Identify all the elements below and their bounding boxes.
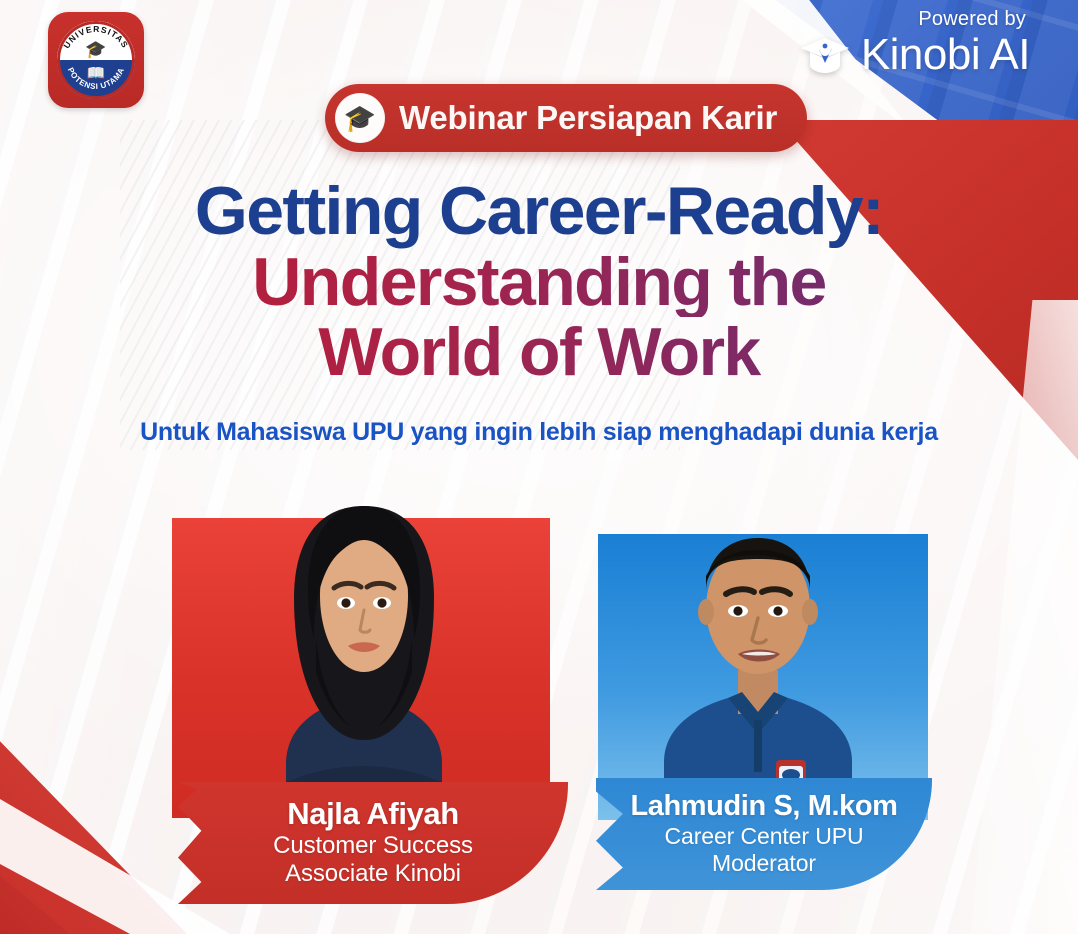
webinar-badge: 🎓 Webinar Persiapan Karir bbox=[325, 84, 807, 152]
speaker-1-role-line-1: Customer Success bbox=[273, 832, 473, 861]
speaker-2-portrait bbox=[650, 472, 866, 822]
university-logo: 🎓 📖 UNIVERSITAS POTENSI UTAMA bbox=[48, 12, 144, 108]
title-line-3: World of Work bbox=[0, 317, 1078, 388]
kinobi-wordmark: Kinobi AI bbox=[861, 33, 1030, 77]
speaker-1-name: Najla Afiyah bbox=[287, 797, 459, 832]
kinobi-cap-logo-icon bbox=[799, 35, 851, 75]
powered-by-block: Powered by Kinobi AI bbox=[799, 8, 1030, 77]
speaker-1-photo-block bbox=[172, 518, 550, 818]
webinar-badge-label: Webinar Persiapan Karir bbox=[399, 99, 777, 137]
webinar-poster: 🎓 📖 UNIVERSITAS POTENSI UTAMA Powered by bbox=[0, 0, 1078, 934]
kinobi-logo-row: Kinobi AI bbox=[799, 33, 1030, 77]
speaker-2-photo-block bbox=[598, 534, 928, 820]
crest-ring bbox=[57, 21, 135, 99]
speaker-2-name: Lahmudin S, M.kom bbox=[630, 790, 897, 822]
graduation-cap-icon: 🎓 bbox=[335, 93, 385, 143]
speaker-2-role-line-2: Moderator bbox=[712, 850, 816, 878]
speaker-1-portrait bbox=[264, 472, 464, 822]
title-line-2: Understanding the bbox=[0, 247, 1078, 318]
title-line-1: Getting Career-Ready: bbox=[0, 176, 1078, 247]
university-crest-icon: 🎓 📖 UNIVERSITAS POTENSI UTAMA bbox=[57, 21, 135, 99]
speaker-1-name-card: Najla Afiyah Customer Success Associate … bbox=[178, 782, 568, 904]
page-title: Getting Career-Ready: Understanding the … bbox=[0, 176, 1078, 388]
speaker-1-role-line-2: Associate Kinobi bbox=[285, 860, 461, 889]
speaker-2-role-line-1: Career Center UPU bbox=[665, 823, 864, 851]
powered-by-label: Powered by bbox=[799, 8, 1026, 31]
page-subtitle: Untuk Mahasiswa UPU yang ingin lebih sia… bbox=[0, 418, 1078, 447]
